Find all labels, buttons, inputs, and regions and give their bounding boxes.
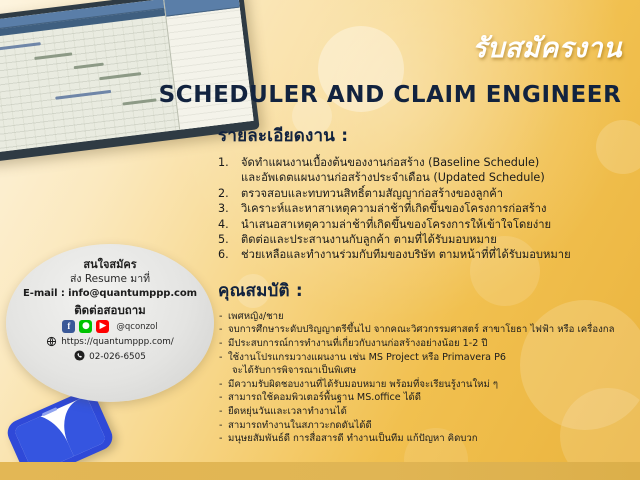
list-item: เพศหญิง/ชาย: [218, 310, 636, 324]
duty-text: จัดทำแผนงานเบื้องต้นของงานก่อสร้าง (Base…: [233, 155, 636, 170]
duty-number: 5.: [218, 232, 229, 247]
qualification-text: สามารถใช้คอมพิวเตอร์พื้นฐาน MS.office ได…: [228, 392, 421, 403]
list-item: สามารถทำงานในสภาวะกดดันได้ดี: [218, 419, 636, 433]
list-item: 2. ตรวจสอบและทบทวนสิทธิ์ตามสัญญาก่อสร้าง…: [218, 186, 636, 201]
qualification-text: เพศหญิง/ชาย: [228, 311, 284, 322]
qualification-text: มีความรับผิดชอบงานที่ได้รับมอบหมาย พร้อม…: [228, 379, 498, 390]
list-item: ใช้งานโปรแกรมวางแผนงาน เช่น MS Project ห…: [218, 351, 636, 378]
duty-number: 3.: [218, 201, 229, 216]
phone-row[interactable]: 02-026-6505: [74, 350, 146, 364]
qualifications-section-heading: คุณสมบัติ :: [218, 277, 636, 304]
qualifications-list: เพศหญิง/ชาย จบการศึกษาระดับปริญญาตรีขึ้น…: [218, 310, 636, 446]
phone-number: 02-026-6505: [89, 352, 146, 362]
contact-panel: สนใจสมัคร ส่ง Resume มาที่ E-mail : info…: [6, 244, 214, 402]
hiring-banner-text: รับสมัครงาน: [472, 26, 622, 69]
duty-text: ตรวจสอบและทบทวนสิทธิ์ตามสัญญาก่อสร้างของ…: [233, 186, 636, 201]
gantt-task-list-panel: [163, 0, 254, 130]
duties-list: 1. จัดทำแผนงานเบื้องต้นของงานก่อสร้าง (B…: [218, 155, 636, 263]
list-item: 6. ช่วยเหลือและทำงานร่วมกับทีมของบริษัท …: [218, 247, 636, 262]
duty-text: นำเสนอสาเหตุความล่าช้าที่เกิดขึ้นของโครง…: [233, 217, 636, 232]
gantt-task-list-header: [164, 0, 240, 17]
social-links-row: f ● ▶ @qconzol: [62, 320, 157, 333]
main-content: รายละเอียดงาน : 1. จัดทำแผนงานเบื้องต้นข…: [218, 122, 636, 446]
duties-section-heading: รายละเอียดงาน :: [218, 122, 636, 149]
phone-icon: [74, 350, 85, 364]
list-item: ยืดหยุ่นวันและเวลาทำงานได้: [218, 405, 636, 419]
bottom-gold-band: [0, 462, 640, 480]
social-handle: @qconzol: [116, 322, 157, 332]
gantt-chart-graphic: [0, 0, 254, 153]
qualification-text-cont: จะได้รับการพิจารณาเป็นพิเศษ: [228, 364, 636, 378]
website-url: https://quantumppp.com/: [61, 337, 174, 347]
page-title: SCHEDULER AND CLAIM ENGINEER: [146, 82, 634, 108]
send-resume-label: ส่ง Resume มาที่: [70, 272, 150, 286]
duty-number: 1.: [218, 155, 229, 170]
qualification-text: จบการศึกษาระดับปริญญาตรีขึ้นไป จากคณะวิศ…: [228, 324, 614, 335]
apply-heading: สนใจสมัคร: [83, 258, 136, 272]
list-item: จบการศึกษาระดับปริญญาตรีขึ้นไป จากคณะวิศ…: [218, 323, 636, 337]
qualification-text: ยืดหยุ่นวันและเวลาทำงานได้: [228, 406, 347, 417]
qualification-text: ใช้งานโปรแกรมวางแผนงาน เช่น MS Project ห…: [228, 352, 506, 363]
globe-icon: [46, 336, 57, 347]
website-row[interactable]: https://quantumppp.com/: [46, 336, 174, 347]
qualification-text: มีประสบการณ์การทำงานที่เกี่ยวกับงานก่อสร…: [228, 338, 487, 349]
duty-number: 4.: [218, 217, 229, 232]
qualification-text: สามารถทำงานในสภาวะกดดันได้ดี: [228, 420, 372, 431]
list-item: 3. วิเคราะห์และหาสาเหตุความล่าช้าที่เกิด…: [218, 201, 636, 216]
qualification-text: มนุษยสัมพันธ์ดี การสื่อสารดี ทำงานเป็นที…: [228, 433, 478, 444]
list-item: มีประสบการณ์การทำงานที่เกี่ยวกับงานก่อสร…: [218, 337, 636, 351]
list-item: 5. ติดต่อและประสานงานกับลูกค้า ตามที่ได้…: [218, 232, 636, 247]
line-icon[interactable]: ●: [79, 320, 92, 333]
list-item: 1. จัดทำแผนงานเบื้องต้นของงานก่อสร้าง (B…: [218, 155, 636, 186]
email-address[interactable]: E-mail : info@quantumppp.com: [23, 286, 197, 301]
duty-text: ช่วยเหลือและทำงานร่วมกับทีมของบริษัท ตาม…: [233, 247, 636, 262]
duty-text: ติดต่อและประสานงานกับลูกค้า ตามที่ได้รับ…: [233, 232, 636, 247]
list-item: มนุษยสัมพันธ์ดี การสื่อสารดี ทำงานเป็นที…: [218, 432, 636, 446]
list-item: สามารถใช้คอมพิวเตอร์พื้นฐาน MS.office ได…: [218, 391, 636, 405]
duty-number: 2.: [218, 186, 229, 201]
facebook-icon[interactable]: f: [62, 320, 75, 333]
inquiry-heading: ติดต่อสอบถาม: [74, 302, 146, 318]
list-item: 4. นำเสนอสาเหตุความล่าช้าที่เกิดขึ้นของโ…: [218, 217, 636, 232]
youtube-icon[interactable]: ▶: [96, 320, 109, 333]
duty-text: วิเคราะห์และหาสาเหตุความล่าช้าที่เกิดขึ้…: [233, 201, 636, 216]
duty-text-cont: และอัพเดตแผนงานก่อสร้างประจำเดือน (Updat…: [233, 170, 636, 185]
job-advertisement-poster: รับสมัครงาน SCHEDULER AND CLAIM ENGINEER…: [0, 0, 640, 480]
list-item: มีความรับผิดชอบงานที่ได้รับมอบหมาย พร้อม…: [218, 378, 636, 392]
duty-number: 6.: [218, 247, 229, 262]
